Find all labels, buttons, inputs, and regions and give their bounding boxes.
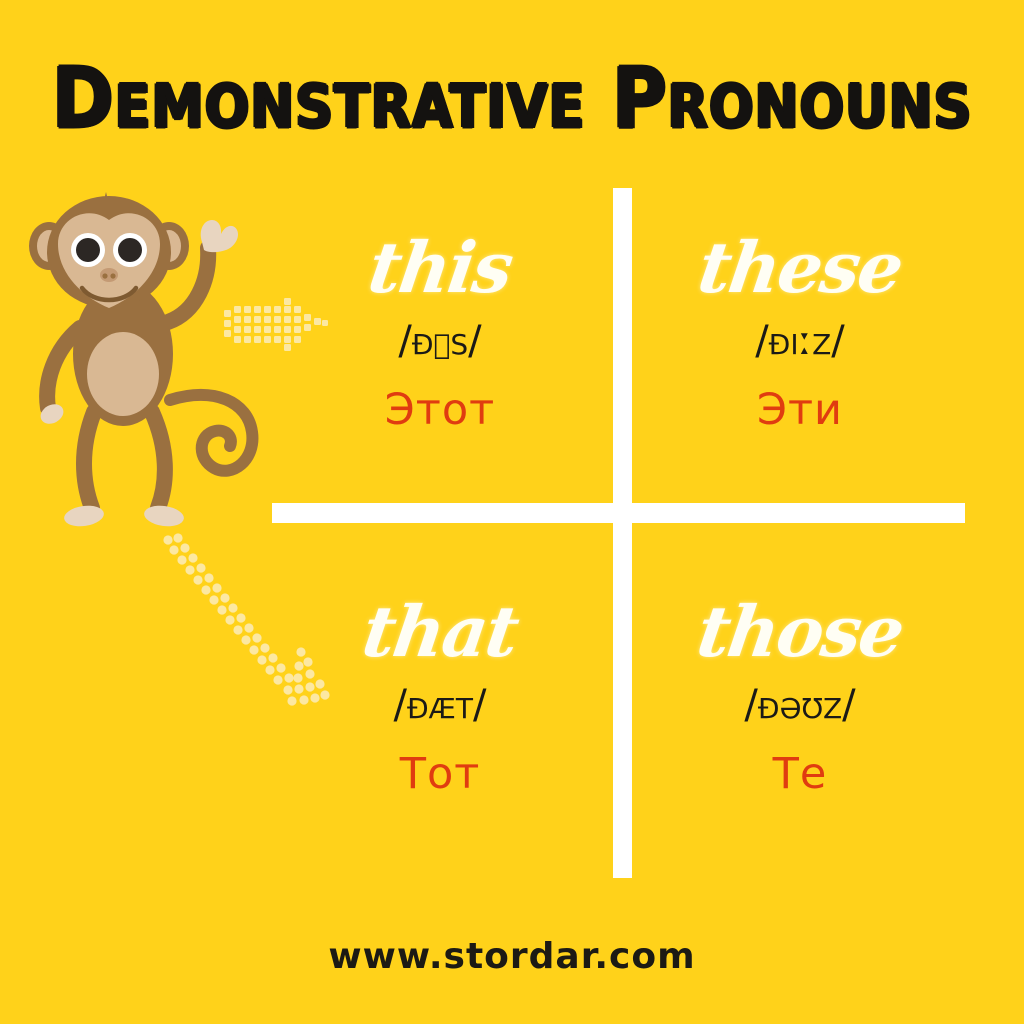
pronoun-cell-that: that /ðæt/ Тот <box>290 592 590 798</box>
footer-website-url: www.stordar.com <box>0 935 1024 979</box>
pronoun-translation-this: Этот <box>290 386 590 434</box>
pronoun-translation-that: Тот <box>290 750 590 798</box>
pronoun-translation-these: Эти <box>650 386 950 434</box>
pronoun-word-this: this <box>284 228 595 308</box>
monkey-mascot-icon <box>18 186 268 546</box>
pronoun-ipa-that: /ðæt/ <box>290 682 590 728</box>
pronoun-word-those: those <box>644 592 955 672</box>
pronoun-ipa-these: /ðiːz/ <box>650 318 950 364</box>
divider-horizontal <box>272 503 965 523</box>
pronoun-cell-this: this /ðɪs/ Этот <box>290 228 590 434</box>
pronoun-ipa-this: /ðɪs/ <box>290 318 590 364</box>
pronoun-word-these: these <box>644 228 955 308</box>
divider-vertical <box>613 188 632 878</box>
pronoun-cell-these: these /ðiːz/ Эти <box>650 228 950 434</box>
pronoun-ipa-those: /ðəʊz/ <box>650 682 950 728</box>
poster-canvas: Demonstrative Pronouns <box>0 0 1024 1024</box>
pronoun-word-that: that <box>284 592 595 672</box>
pronoun-cell-those: those /ðəʊz/ Те <box>650 592 950 798</box>
page-title: Demonstrative Pronouns <box>5 52 1019 144</box>
pronoun-translation-those: Те <box>650 750 950 798</box>
